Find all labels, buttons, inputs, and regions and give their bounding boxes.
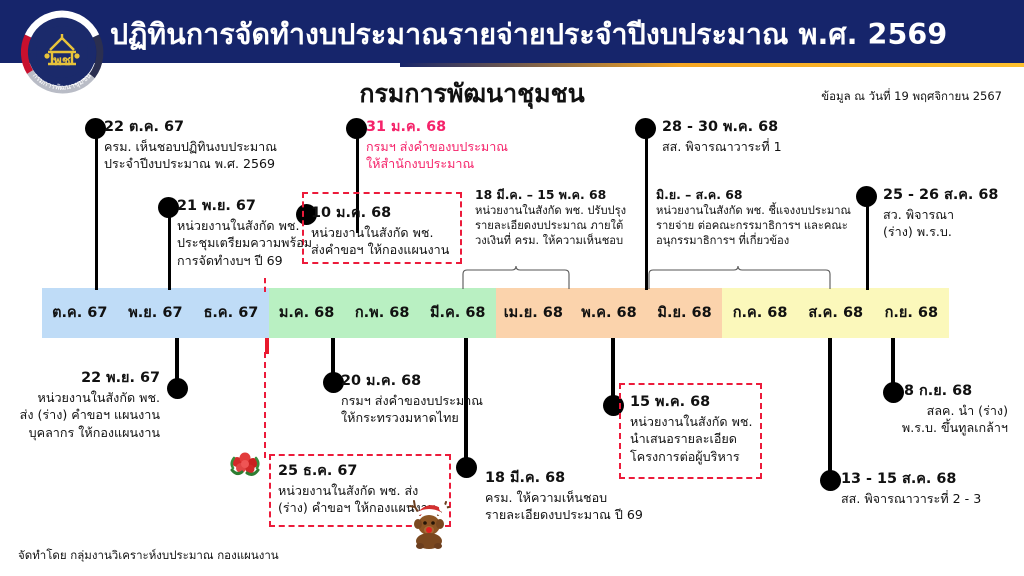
note-line: ให้สำนักงบประมาณ — [366, 155, 508, 173]
note-line: หน่วยงานในสังกัด พช. — [177, 217, 312, 235]
marker-dot-28may68[interactable] — [635, 118, 656, 139]
note-line: หน่วยงานในสังกัด พช. — [311, 224, 449, 242]
note-line: ส่ง (ร่าง) คำขอฯ แผนงาน — [0, 406, 160, 424]
note-28-30may68: 28 - 30 พ.ค. 68 สส. พิจารณาวาระที่ 1 — [662, 119, 782, 155]
note-date: 20 ม.ค. 68 — [341, 373, 483, 391]
tick-15may68 — [611, 338, 615, 402]
stem-25aug68 — [866, 196, 869, 290]
note-date: 15 พ.ค. 68 — [630, 394, 752, 412]
note-line: ประชุมเตรียมความพร้อม — [177, 234, 312, 252]
timeline-group-q2: ม.ค. 68 ก.พ. 68 มี.ค. 68 — [269, 288, 496, 338]
note-jun-aug68: มิ.ย. – ส.ค. 68 หน่วยงานในสังกัด พช. ชี้… — [656, 187, 851, 248]
note-line: หน่วยงานในสังกัด พช. ปรับปรุง — [475, 203, 626, 218]
header-accent-stripe — [400, 63, 1024, 67]
marker-dot-13aug68[interactable] — [820, 470, 841, 491]
note-line: สส. พิจารณาวาระที่ 1 — [662, 138, 782, 156]
month-cell[interactable]: มิ.ย. 68 — [647, 288, 723, 338]
timeline-bar: ต.ค. 67 พ.ย. 67 ธ.ค. 67 ม.ค. 68 ก.พ. 68 … — [42, 288, 950, 338]
timeline-group-q1: ต.ค. 67 พ.ย. 67 ธ.ค. 67 — [42, 288, 269, 338]
note-date: 8 ก.ย. 68 — [904, 383, 1008, 401]
timeline-group-q4: ก.ค. 68 ส.ค. 68 ก.ย. 68 — [722, 288, 949, 338]
note-21nov67: 21 พ.ย. 67 หน่วยงานในสังกัด พช. ประชุมเต… — [177, 198, 312, 269]
month-cell[interactable]: ส.ค. 68 — [798, 288, 874, 338]
note-line: หน่วยงานในสังกัด พช. — [630, 413, 752, 431]
note-line: ครม. ให้ความเห็นชอบ — [485, 489, 643, 507]
brace-jun-aug — [648, 262, 833, 290]
page-subtitle-text: กรมการพัฒนาชุมชน — [359, 74, 584, 114]
marker-dot-18mar68[interactable] — [456, 457, 477, 478]
reindeer-santa-icon — [406, 497, 454, 549]
note-line: (ร่าง) พ.ร.บ. — [883, 223, 998, 241]
stem-22oct67 — [95, 128, 98, 290]
note-line: รายจ่าย ต่อคณะกรรมาธิการฯ และคณะ — [656, 218, 851, 233]
as-of-date: ข้อมูล ณ วันที่ 19 พฤศจิกายน 2567 — [821, 88, 1002, 106]
note-18mar68: 18 มี.ค. 68 ครม. ให้ความเห็นชอบ รายละเอี… — [485, 470, 643, 524]
month-cell[interactable]: เม.ย. 68 — [496, 288, 572, 338]
marker-dot-31jan68[interactable] — [346, 118, 367, 139]
note-line: พ.ร.บ. ขึ้นทูลเกล้าฯ — [792, 419, 1008, 437]
note-13-15aug68: 13 - 15 ส.ค. 68 สส. พิจารณาวาระที่ 2 - 3 — [841, 471, 981, 507]
note-line: วงเงินที่ ครม. ให้ความเห็นชอบ — [475, 233, 626, 248]
note-date: 31 ม.ค. 68 — [366, 119, 508, 137]
note-25-26aug68: 25 - 26 ส.ค. 68 สว. พิจารณา (ร่าง) พ.ร.บ… — [883, 187, 998, 241]
note-line: หน่วยงานในสังกัด พช. — [0, 389, 160, 407]
note-line: กรมฯ ส่งคำของบประมาณ — [366, 138, 508, 156]
note-line: กรมฯ ส่งคำของบประมาณ — [341, 392, 483, 410]
note-line: บุคลากร ให้กองแผนงาน — [0, 424, 160, 442]
note-date: มิ.ย. – ส.ค. 68 — [656, 187, 851, 202]
timeline-group-q3: เม.ย. 68 พ.ค. 68 มิ.ย. 68 — [496, 288, 723, 338]
note-date: 21 พ.ย. 67 — [177, 198, 312, 216]
note-date: 22 พ.ย. 67 — [0, 370, 160, 388]
note-line: ส่งคำขอฯ ให้กองแผนงาน — [311, 241, 449, 259]
marker-dot-22oct67[interactable] — [85, 118, 106, 139]
month-cell[interactable]: ก.พ. 68 — [344, 288, 420, 338]
note-date: 10 ม.ค. 68 — [311, 205, 449, 223]
note-line: ครม. เห็นชอบปฏิทินงบประมาณ — [104, 138, 277, 156]
note-line: สลค. นำ (ร่าง) — [792, 402, 1008, 420]
dashed-connector-10jan68 — [264, 278, 266, 292]
note-20jan68: 20 ม.ค. 68 กรมฯ ส่งคำของบประมาณ ให้กระทร… — [341, 373, 483, 427]
month-cell[interactable]: มี.ค. 68 — [420, 288, 496, 338]
marker-dot-22nov67[interactable] — [167, 378, 188, 399]
note-date: 18 มี.ค. 68 — [485, 470, 643, 488]
dashed-connector-25dec67 — [264, 352, 266, 458]
note-date: 13 - 15 ส.ค. 68 — [841, 471, 981, 489]
note-line: ประจำปีงบประมาณ พ.ศ. 2569 — [104, 155, 277, 173]
month-cell[interactable]: พ.ค. 68 — [571, 288, 647, 338]
note-line: อนุกรรมาธิการฯ ที่เกี่ยวข้อง — [656, 233, 851, 248]
note-line: การจัดทำงบฯ ปี 69 — [177, 252, 312, 270]
note-date: 28 - 30 พ.ค. 68 — [662, 119, 782, 137]
month-cell[interactable]: ก.ย. 68 — [874, 288, 950, 338]
month-cell[interactable]: ต.ค. 67 — [42, 288, 118, 338]
note-22oct67: 22 ต.ค. 67 ครม. เห็นชอบปฏิทินงบประมาณ ปร… — [104, 119, 277, 173]
note-date: 25 ธ.ค. 67 — [278, 463, 436, 481]
note-date: 25 - 26 ส.ค. 68 — [883, 187, 998, 205]
month-cell[interactable]: ก.ค. 68 — [722, 288, 798, 338]
svg-text:พช: พช — [53, 54, 71, 69]
note-line: โครงการต่อผู้บริหาร — [630, 448, 752, 466]
month-cell[interactable]: พ.ย. 67 — [118, 288, 194, 338]
note-line: รายละเอียดงบประมาณ ภายใต้ — [475, 218, 626, 233]
note-10jan68: 10 ม.ค. 68 หน่วยงานในสังกัด พช. ส่งคำขอฯ… — [311, 205, 449, 259]
note-22nov67: 22 พ.ย. 67 หน่วยงานในสังกัด พช. ส่ง (ร่า… — [0, 370, 160, 441]
note-line: รายละเอียดงบประมาณ ปี 69 — [485, 506, 643, 524]
note-line: สส. พิจารณาวาระที่ 2 - 3 — [841, 490, 981, 508]
marker-dot-25aug68[interactable] — [856, 186, 877, 207]
note-date: 18 มี.ค. – 15 พ.ค. 68 — [475, 187, 626, 202]
marker-dot-21nov67[interactable] — [158, 197, 179, 218]
stem-21nov67 — [168, 207, 171, 290]
note-31jan68: 31 ม.ค. 68 กรมฯ ส่งคำของบประมาณ ให้สำนัก… — [366, 119, 508, 173]
page-title: ปฏิทินการจัดทำงบประมาณรายจ่ายประจำปีงบปร… — [110, 14, 940, 56]
note-line: ให้กระทรวงมหาดไทย — [341, 409, 483, 427]
note-8sep68: 8 ก.ย. 68 สลค. นำ (ร่าง) พ.ร.บ. ขึ้นทูลเ… — [792, 383, 1008, 437]
note-line: หน่วยงานในสังกัด พช. ชี้แจงงบประมาณ — [656, 203, 851, 218]
note-date: 22 ต.ค. 67 — [104, 119, 277, 137]
note-line: นำเสนอรายละเอียด — [630, 430, 752, 448]
note-15may68: 15 พ.ค. 68 หน่วยงานในสังกัด พช. นำเสนอรา… — [630, 394, 752, 465]
month-cell[interactable]: ธ.ค. 67 — [193, 288, 269, 338]
month-cell[interactable]: ม.ค. 68 — [269, 288, 345, 338]
calendar-infographic: พช กรมการพัฒนาชุมชน ปฏิทินการจัดทำงบประม… — [0, 0, 1024, 576]
note-line: สว. พิจารณา — [883, 206, 998, 224]
footer-credit: จัดทำโดย กลุ่มงานวิเคราะห์งบประมาณ กองแผ… — [18, 547, 279, 565]
tick-8sep68 — [891, 338, 895, 388]
christmas-wreath-icon — [228, 450, 262, 484]
brace-18mar-15may — [462, 262, 572, 290]
note-18mar-15may68: 18 มี.ค. – 15 พ.ค. 68 หน่วยงานในสังกัด พ… — [475, 187, 626, 248]
